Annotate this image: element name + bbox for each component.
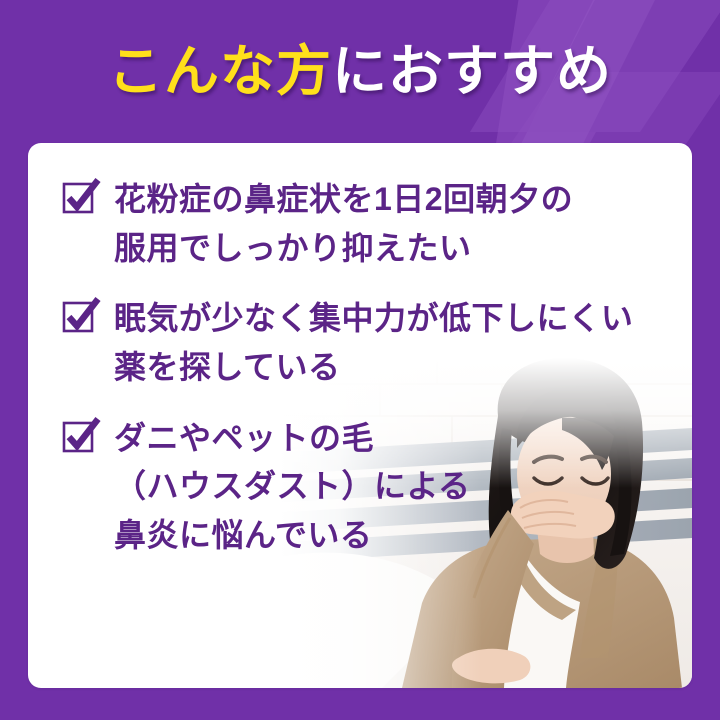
checkbox-checked-icon: [62, 299, 96, 333]
checkbox-checked-icon: [62, 180, 96, 214]
page-title-rest: におすすめ: [332, 40, 612, 102]
header-banner: こんな方におすすめ: [0, 0, 720, 143]
list-item: 花粉症の鼻症状を1日2回朝夕の 服用でしっかり抑えたい: [28, 175, 692, 272]
list-item-label: ダニやペットの毛 （ハウスダスト）による 鼻炎に悩んでいる: [114, 414, 471, 560]
list-item: ダニやペットの毛 （ハウスダスト）による 鼻炎に悩んでいる: [28, 414, 692, 560]
page-title-highlight: こんな方: [108, 40, 332, 102]
list-item-label: 花粉症の鼻症状を1日2回朝夕の 服用でしっかり抑えたい: [114, 175, 573, 272]
checkbox-checked-icon: [62, 419, 96, 453]
content-card: 花粉症の鼻症状を1日2回朝夕の 服用でしっかり抑えたい 眠気が少なく集中力が低下…: [28, 143, 692, 688]
list-item-label: 眠気が少なく集中力が低下しにくい 薬を探している: [114, 294, 633, 391]
promo-poster: こんな方におすすめ: [0, 0, 720, 720]
page-title: こんな方におすすめ: [108, 44, 612, 99]
benefits-checklist: 花粉症の鼻症状を1日2回朝夕の 服用でしっかり抑えたい 眠気が少なく集中力が低下…: [28, 143, 692, 559]
list-item: 眠気が少なく集中力が低下しにくい 薬を探している: [28, 294, 692, 391]
